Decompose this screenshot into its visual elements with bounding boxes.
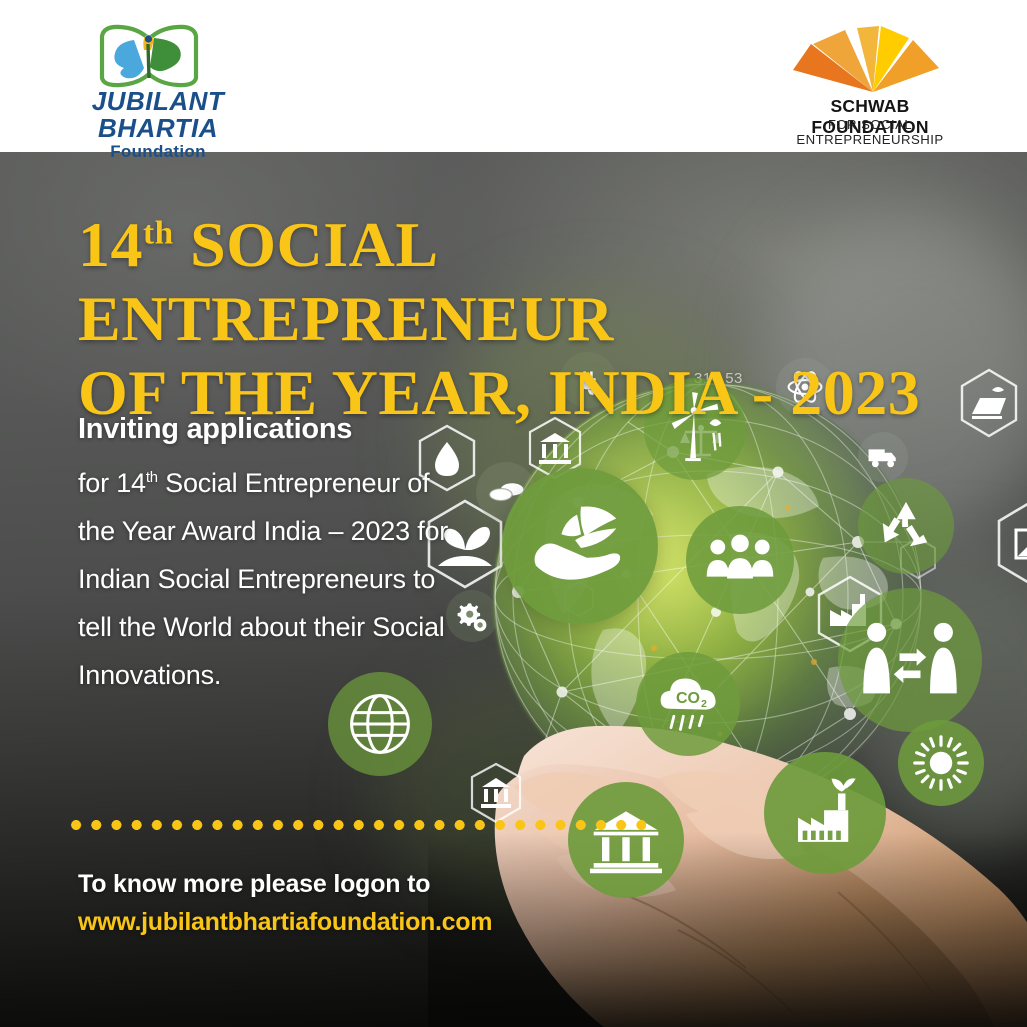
photo-hex-icon [994, 496, 1027, 590]
cta-url[interactable]: www.jubilantbhartiafoundation.com [78, 908, 492, 937]
people-group-icon [686, 506, 794, 614]
jubilant-bhartia-wordmark: JUBILANT BHARTIA Foundation [58, 88, 258, 160]
schwab-foundation-logo[interactable]: SCHWAB FOUNDATION FOR SOCIAL ENTREPRENEU… [770, 26, 970, 136]
book-butterfly-icon [94, 22, 204, 92]
bank-building-icon [568, 782, 684, 898]
sun-icon [898, 720, 984, 806]
sunburst-fan-icon [790, 26, 955, 94]
lede-block: Inviting applications for 14th Social En… [78, 415, 468, 699]
jubilant-bhartia-logo[interactable]: JUBILANT BHARTIA Foundation [58, 22, 258, 140]
svg-text:2: 2 [701, 699, 707, 710]
jb-line-3: Foundation [58, 143, 258, 160]
co2-cloud-icon: CO 2 [636, 652, 740, 756]
poster-body: 314.53 [0, 152, 1027, 1027]
page-title: 14th SOCIAL ENTREPRENEUR OF THE YEAR, IN… [78, 208, 978, 431]
cta-text: To know more please logon to [78, 870, 492, 899]
recycle-icon [858, 478, 954, 574]
cta-block: To know more please logon to www.jubilan… [78, 870, 492, 937]
globe-in-hands-artwork: 314.53 [398, 352, 1027, 1027]
equality-exchange-icon [838, 588, 982, 732]
title-line-1: 14th SOCIAL ENTREPRENEUR [78, 209, 614, 354]
jb-line-2: BHARTIA [58, 115, 258, 141]
schwab-line-2: FOR SOCIAL ENTREPRENEURSHIP [770, 117, 970, 147]
lede-heading: Inviting applications [78, 415, 468, 444]
dotted-divider [66, 820, 646, 830]
lede-paragraph: for 14th Social Entrepreneur of the Year… [78, 459, 468, 699]
museum-hex-icon [468, 762, 524, 824]
header-bar: JUBILANT BHARTIA Foundation SCHWAB FOUND… [0, 0, 1027, 152]
svg-text:CO: CO [676, 689, 700, 707]
truck-icon [858, 432, 908, 482]
poster-canvas: JUBILANT BHARTIA Foundation SCHWAB FOUND… [0, 0, 1027, 1027]
hand-leaf-icon [502, 468, 658, 624]
jb-line-1: JUBILANT [58, 88, 258, 114]
eco-factory-icon [764, 752, 886, 874]
